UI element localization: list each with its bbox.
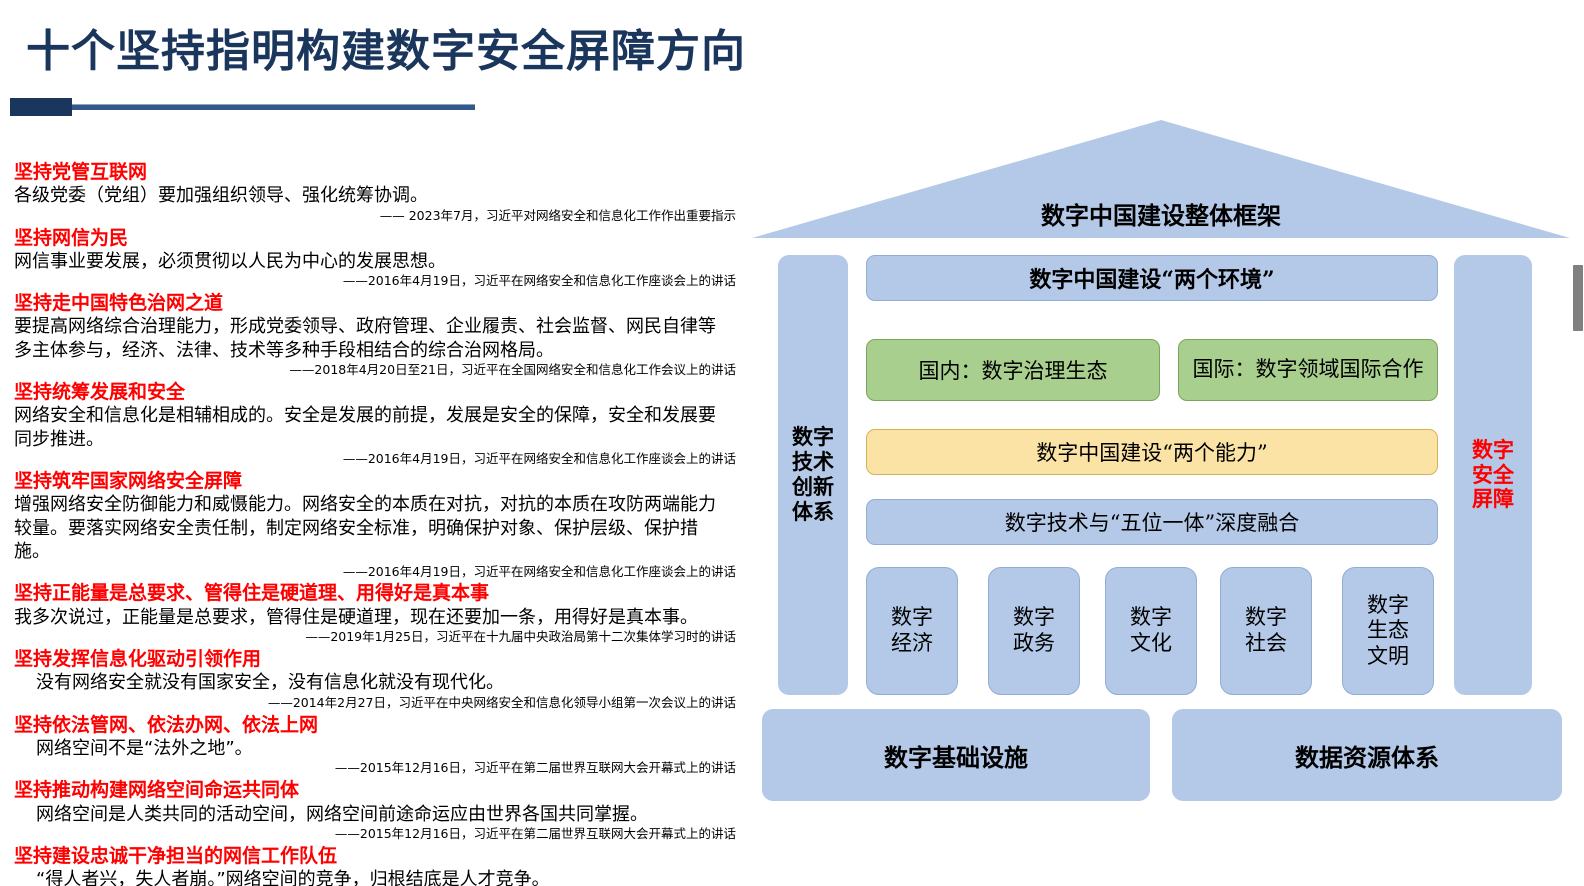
principle-source: —— 2023年7月，习近平对网络安全和信息化工作作出重要指示 <box>0 208 742 225</box>
foundation-digital-infrastructure: 数字基础设施 <box>762 709 1150 801</box>
pill-digital-culture: 数字文化 <box>1105 567 1197 695</box>
principle-item: 坚持统筹发展和安全 网络安全和信息化是相辅相成的。安全是发展的前提，发展是安全的… <box>0 380 742 468</box>
principle-item: 坚持发挥信息化驱动引领作用 没有网络安全就没有国家安全，没有信息化就没有现代化。… <box>0 647 742 712</box>
principle-heading: 坚持网信为民 <box>0 226 742 250</box>
principle-body: 要提高网络综合治理能力，形成党委领导、政府管理、企业履责、社会监督、网民自律等多… <box>0 315 742 362</box>
principle-body: 增强网络安全防御能力和威慑能力。网络安全的本质在对抗，对抗的本质在攻防两端能力较… <box>0 493 742 563</box>
principle-source: ——2015年12月16日，习近平在第二届世界互联网大会开幕式上的讲话 <box>0 826 742 843</box>
pillar-right-label: 数字安全屏障 <box>1471 438 1515 512</box>
principle-item: 坚持依法管网、依法办网、依法上网 网络空间不是“法外之地”。 ——2015年12… <box>0 713 742 778</box>
pill-label: 数字生态文明 <box>1359 593 1417 670</box>
page-title: 十个坚持指明构建数字安全屏障方向 <box>26 28 746 76</box>
foundation-data-resources: 数据资源体系 <box>1172 709 1562 801</box>
principle-body: 没有网络安全就没有国家安全，没有信息化就没有现代化。 <box>0 671 742 694</box>
principle-body: 网络空间不是“法外之地”。 <box>0 737 742 760</box>
principle-heading: 坚持发挥信息化驱动引领作用 <box>0 647 742 671</box>
principle-source: ——2016年4月19日，习近平在网络安全和信息化工作座谈会上的讲话 <box>0 451 742 468</box>
principle-source: ——2015年12月16日，习近平在第二届世界互联网大会开幕式上的讲话 <box>0 760 742 777</box>
principle-body: 各级党委（党组）要加强组织领导、强化统筹协调。 <box>0 184 742 207</box>
principle-heading: 坚持筑牢国家网络安全屏障 <box>0 469 742 493</box>
principle-heading: 坚持建设忠诚干净担当的网信工作队伍 <box>0 844 742 868</box>
principle-item: 坚持走中国特色治网之道 要提高网络综合治理能力，形成党委领导、政府管理、企业履责… <box>0 291 742 379</box>
pill-digital-society: 数字社会 <box>1220 567 1312 695</box>
pill-label: 数字政务 <box>1005 605 1063 656</box>
principle-source: ——2019年1月25日，习近平在十九届中央政治局第十二次集体学习时的讲话 <box>0 629 742 646</box>
diagram-body: 数字技术创新体系 数字安全屏障 数字中国建设“两个环境” 国内：数字治理生态 国… <box>750 255 1572 695</box>
principle-body: 我多次说过，正能量是总要求，管得住是硬道理，现在还要加一条，用得好是真本事。 <box>0 606 742 629</box>
principle-body: 网信事业要发展，必须贯彻以人民为中心的发展思想。 <box>0 250 742 273</box>
principle-item: 坚持网信为民 网信事业要发展，必须贯彻以人民为中心的发展思想。 ——2016年4… <box>0 226 742 291</box>
diagram-foundation: 数字基础设施 数据资源体系 <box>750 709 1572 801</box>
pillar-tech-innovation: 数字技术创新体系 <box>778 255 848 695</box>
principle-source: ——2014年2月27日，习近平在中央网络安全和信息化领导小组第一次会议上的讲话 <box>0 695 742 712</box>
slide-canvas: 十个坚持指明构建数字安全屏障方向 坚持党管互联网 各级党委（党组）要加强组织领导… <box>0 0 1584 886</box>
principle-heading: 坚持统筹发展和安全 <box>0 380 742 404</box>
diagram-roof: 数字中国建设整体框架 <box>750 118 1572 246</box>
bar-two-environments: 数字中国建设“两个环境” <box>866 255 1438 301</box>
principle-item: 坚持推动构建网络空间命运共同体 网络空间是人类共同的活动空间，网络空间前途命运应… <box>0 778 742 843</box>
pillar-left-label: 数字技术创新体系 <box>791 425 835 524</box>
principle-heading: 坚持依法管网、依法办网、依法上网 <box>0 713 742 737</box>
pill-digital-government: 数字政务 <box>988 567 1080 695</box>
roof-label: 数字中国建设整体框架 <box>750 196 1572 231</box>
principle-source: ——2016年4月19日，习近平在网络安全和信息化工作座谈会上的讲话 <box>0 273 742 290</box>
pillar-digital-security: 数字安全屏障 <box>1454 255 1532 695</box>
digital-china-framework-diagram: 数字中国建设整体框架 数字技术创新体系 数字安全屏障 数字中国建设“两个环境” … <box>750 118 1572 818</box>
principle-item: 坚持建设忠诚干净担当的网信工作队伍 “得人者兴，失人者崩。”网络空间的竞争，归根… <box>0 844 742 886</box>
box-international-cooperation: 国际：数字领域国际合作 <box>1178 339 1438 401</box>
title-accent-block <box>10 98 72 116</box>
vertical-scrollbar[interactable] <box>1570 0 1584 886</box>
principles-list: 坚持党管互联网 各级党委（党组）要加强组织领导、强化统筹协调。 —— 2023年… <box>0 160 742 886</box>
principle-item: 坚持党管互联网 各级党委（党组）要加强组织领导、强化统筹协调。 —— 2023年… <box>0 160 742 225</box>
pill-digital-economy: 数字经济 <box>866 567 958 695</box>
principle-body: 网络空间是人类共同的活动空间，网络空间前途命运应由世界各国共同掌握。 <box>0 803 742 826</box>
pill-label: 数字经济 <box>883 605 941 656</box>
bar-deep-fusion: 数字技术与“五位一体”深度融合 <box>866 499 1438 545</box>
title-area: 十个坚持指明构建数字安全屏障方向 <box>0 0 1000 120</box>
principle-item: 坚持筑牢国家网络安全屏障 增强网络安全防御能力和威慑能力。网络安全的本质在对抗，… <box>0 469 742 580</box>
principle-source: ——2018年4月20日至21日，习近平在全国网络安全和信息化工作会议上的讲话 <box>0 362 742 379</box>
pill-label: 数字社会 <box>1237 605 1295 656</box>
principle-heading: 坚持党管互联网 <box>0 160 742 184</box>
bar-two-capabilities: 数字中国建设“两个能力” <box>866 429 1438 475</box>
pill-label: 数字文化 <box>1122 605 1180 656</box>
principle-heading: 坚持走中国特色治网之道 <box>0 291 742 315</box>
principle-body: “得人者兴，失人者崩。”网络空间的竞争，归根结底是人才竞争。 <box>0 868 742 886</box>
scrollbar-thumb[interactable] <box>1573 265 1583 331</box>
title-divider-rule <box>72 104 475 110</box>
pill-digital-ecology: 数字生态文明 <box>1342 567 1434 695</box>
principle-source: ——2016年4月19日，习近平在网络安全和信息化工作座谈会上的讲话 <box>0 564 742 581</box>
principle-body: 网络安全和信息化是相辅相成的。安全是发展的前提，发展是安全的保障，安全和发展要同… <box>0 404 742 451</box>
principle-heading: 坚持推动构建网络空间命运共同体 <box>0 778 742 802</box>
principle-item: 坚持正能量是总要求、管得住是硬道理、用得好是真本事 我多次说过，正能量是总要求，… <box>0 581 742 646</box>
principle-heading: 坚持正能量是总要求、管得住是硬道理、用得好是真本事 <box>0 581 742 605</box>
box-domestic-governance: 国内：数字治理生态 <box>866 339 1160 401</box>
